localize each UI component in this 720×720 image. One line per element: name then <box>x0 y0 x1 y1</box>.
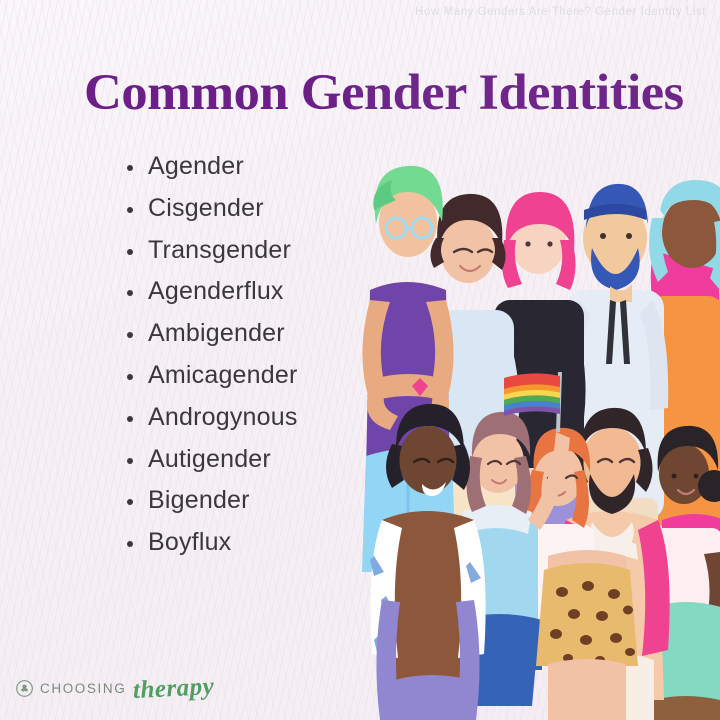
list-item: Agender <box>127 152 298 194</box>
list-item: Autigender <box>127 445 298 487</box>
bullet-icon <box>127 406 148 426</box>
bullet-icon <box>127 448 148 468</box>
list-item-label: Amicagender <box>148 361 298 390</box>
brand-name-primary: CHOOSING <box>40 681 126 696</box>
list-item-label: Androgynous <box>148 403 298 432</box>
bullet-icon <box>127 489 148 509</box>
bullet-icon <box>127 239 148 259</box>
list-item-label: Agender <box>148 152 244 181</box>
list-item: Amicagender <box>127 361 298 403</box>
list-item-label: Autigender <box>148 445 271 474</box>
bullet-icon <box>127 531 148 551</box>
list-item: Androgynous <box>127 403 298 445</box>
bullet-icon <box>127 280 148 300</box>
list-item-label: Agenderflux <box>148 277 284 306</box>
gender-identity-list: Agender Cisgender Transgender Agenderflu… <box>127 152 298 570</box>
list-item: Ambigender <box>127 319 298 361</box>
list-item-label: Transgender <box>148 236 291 265</box>
bullet-icon <box>127 322 148 342</box>
bullet-icon <box>127 364 148 384</box>
people-illustration <box>352 0 720 720</box>
list-item: Boyflux <box>127 528 298 570</box>
list-item-label: Ambigender <box>148 319 285 348</box>
list-item-label: Bigender <box>148 486 250 515</box>
bullet-icon <box>127 155 148 175</box>
list-item: Bigender <box>127 486 298 528</box>
list-item: Cisgender <box>127 194 298 236</box>
brand-name-secondary: therapy <box>133 673 216 705</box>
list-item: Transgender <box>127 236 298 278</box>
brand-logo[interactable]: CHOOSING therapy <box>16 674 215 702</box>
list-item-label: Boyflux <box>148 528 231 557</box>
infographic-canvas: How Many Genders Are There? Gender Ident… <box>0 0 720 720</box>
bullet-icon <box>127 197 148 217</box>
clover-circle-icon <box>16 680 33 697</box>
list-item-label: Cisgender <box>148 194 264 223</box>
list-item: Agenderflux <box>127 277 298 319</box>
